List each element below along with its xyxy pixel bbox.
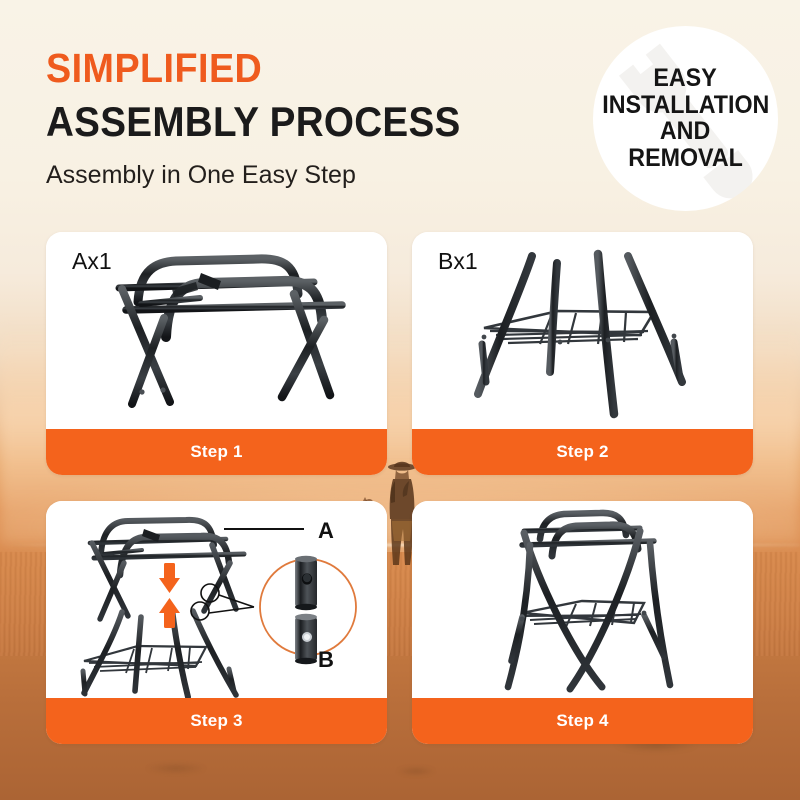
badge-line-1: EASY	[654, 66, 717, 92]
arrow-down-icon	[159, 563, 180, 593]
step-4-footer: Step 4	[412, 698, 753, 744]
poster-stage: SIMPLIFIED ASSEMBLY PROCESS Assembly in …	[0, 0, 800, 800]
step-3-illustration	[46, 501, 387, 698]
callout-label-a: A	[318, 518, 334, 544]
step-1-footer: Step 1	[46, 429, 387, 475]
step-card-4[interactable]: Step 4	[412, 501, 753, 744]
step-2-label: Step 2	[556, 442, 608, 462]
callout-label-b: B	[318, 647, 334, 673]
saddle-rack-insert-diagram-icon	[46, 501, 387, 698]
tube-pin-detail-icon	[260, 556, 356, 664]
step-3-body: A B	[46, 501, 387, 698]
step-1-label: Step 1	[190, 442, 242, 462]
saddle-rack-assembled-icon	[412, 501, 753, 698]
page-title-line1: SIMPLIFIED	[46, 48, 262, 89]
easy-install-badge: EASY INSTALLATION AND REMOVAL	[593, 26, 778, 211]
step-card-3[interactable]: A B Step 3	[46, 501, 387, 744]
step-3-footer: Step 3	[46, 698, 387, 744]
step-2-body: Bx1	[412, 232, 753, 429]
step-4-body	[412, 501, 753, 698]
page-subtitle: Assembly in One Easy Step	[46, 162, 356, 190]
step-4-label: Step 4	[556, 711, 608, 731]
step-card-2[interactable]: Bx1	[412, 232, 753, 475]
step-2-footer: Step 2	[412, 429, 753, 475]
step-3-label: Step 3	[190, 711, 242, 731]
badge-text: EASY INSTALLATION AND REMOVAL	[593, 26, 778, 211]
saddle-rack-leg-base-icon	[412, 232, 753, 429]
step-2-illustration	[412, 232, 753, 429]
badge-line-4: REMOVAL	[628, 146, 743, 172]
badge-line-3: AND	[660, 119, 710, 145]
step-1-body: Ax1	[46, 232, 387, 429]
page-title-line2: ASSEMBLY PROCESS	[46, 101, 461, 143]
saddle-rack-top-frame-icon	[46, 232, 387, 429]
step-4-illustration	[412, 501, 753, 698]
badge-line-2: INSTALLATION	[602, 93, 769, 119]
step-1-illustration	[46, 232, 387, 429]
step-card-1[interactable]: Ax1	[46, 232, 387, 475]
